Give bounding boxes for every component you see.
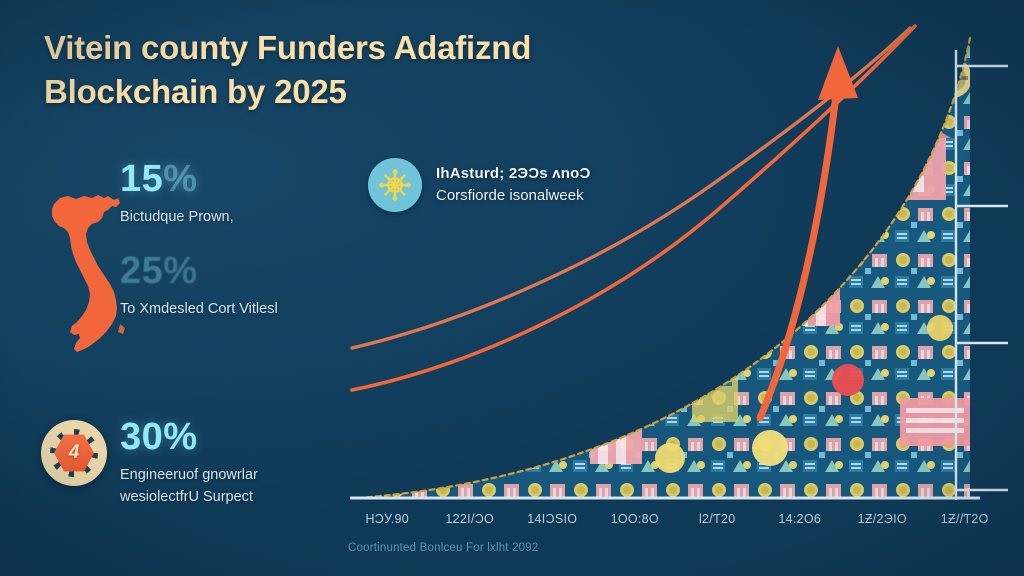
chart-callout: IhAsturd; 2ЭƆs ʌnoƆ Corsfiorde isonalwee…	[368, 158, 590, 212]
x-tick-5: l2/Ƭ20	[676, 512, 759, 526]
x-tick-4: 1OO:8O	[594, 512, 677, 526]
stat-item-1: 15% Bictudque Prown,	[120, 160, 234, 229]
hexagon-badge: 4	[54, 433, 94, 473]
x-tick-2: 122I/ƆO	[429, 512, 512, 526]
stat-percent-1: %	[163, 158, 197, 200]
network-starburst-icon	[368, 158, 422, 212]
callout-line-1: IhAsturd; 2ЭƆs ʌnoƆ	[436, 163, 590, 185]
x-tick-6: 14:2O6	[759, 512, 842, 526]
stats-column: 15% Bictudque Prown, 25% To Xmdesled Cor…	[28, 160, 338, 533]
x-tick-8: 1Ƶ//Ƭ2O	[924, 512, 1007, 526]
illustration-field	[340, 18, 1008, 518]
stat-label-1: Bictudque Prown,	[120, 207, 234, 229]
stats-group-top: 15% Bictudque Prown, 25% To Xmdesled Cor…	[28, 160, 338, 398]
growth-chart: IhAsturd; 2ЭƆs ʌnoƆ Corsfiorde isonalwee…	[340, 18, 1008, 558]
x-tick-1: HƆУ.90	[346, 512, 429, 526]
stat-number-3: 30	[120, 416, 163, 458]
stat-number-2: 25	[120, 250, 163, 292]
gear-coin-icon: 4	[41, 420, 107, 486]
stat-item-2: 25% To Xmdesled Cort Vitlesl	[120, 252, 278, 321]
x-axis-labels: HƆУ.90 122I/ƆO 14IƆSIO 1OO:8O l2/Ƭ20 14:…	[346, 512, 1006, 526]
stat-percent-2: %	[163, 250, 197, 292]
stat-body-3: 30% Engineeruof gnowrlar wesiolectfrU Su…	[120, 416, 310, 509]
stat-label-2: To Xmdesled Cort Vitlesl	[120, 299, 278, 321]
callout-line-2: Corsfiorde isonalweek	[436, 185, 590, 207]
stat-value-1: 15%	[120, 160, 234, 198]
stat-number-1: 15	[120, 158, 163, 200]
chart-caption: Coortinunted Bonlceu For lxlht 2092	[348, 542, 538, 554]
stat-label-3: Engineeruof gnowrlar wesiolectfrU Surpec…	[120, 465, 310, 509]
stat-item-3: 4 30% Engineeruof gnowrlar wesiolectfrU …	[28, 416, 338, 509]
chart-canvas	[340, 18, 1008, 558]
x-tick-7: 1Ƶ/2ЭIO	[841, 512, 924, 526]
x-tick-3: 14IƆSIO	[511, 512, 594, 526]
stat-value-3: 30%	[120, 418, 310, 456]
stat-percent-3: %	[163, 416, 197, 458]
stat-value-2: 25%	[120, 252, 278, 290]
chart-callout-text: IhAsturd; 2ЭƆs ʌnoƆ Corsfiorde isonalwee…	[436, 163, 590, 207]
infographic-poster: Vitein county Funders Adafiznd Blockchai…	[0, 0, 1024, 576]
stat-figure-3: 4	[28, 416, 120, 486]
